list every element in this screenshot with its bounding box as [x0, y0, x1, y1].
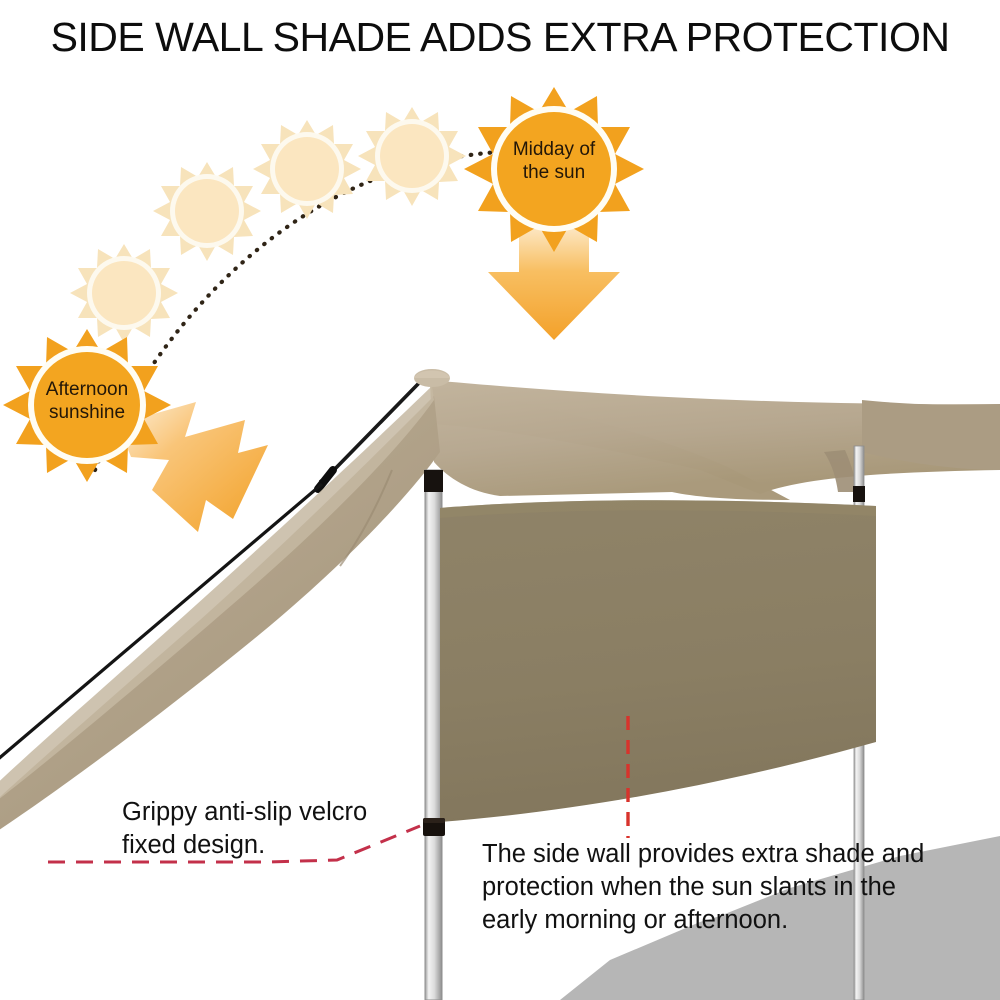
sun-midday-icon — [464, 87, 644, 252]
callout-velcro-text: Grippy anti-slip velcro fixed design. — [122, 796, 367, 862]
diagram-canvas: SIDE WALL SHADE ADDS EXTRA PROTECTION Mi… — [0, 0, 1000, 1000]
sun-faded-1 — [70, 244, 178, 343]
page-title: SIDE WALL SHADE ADDS EXTRA PROTECTION — [0, 14, 1000, 62]
callout-sidewall-text: The side wall provides extra shade and p… — [482, 838, 924, 937]
velcro-strap — [423, 818, 445, 836]
sun-faded-2 — [153, 162, 261, 261]
sun-faded-3 — [253, 120, 361, 219]
sun-faded-4 — [358, 107, 466, 206]
